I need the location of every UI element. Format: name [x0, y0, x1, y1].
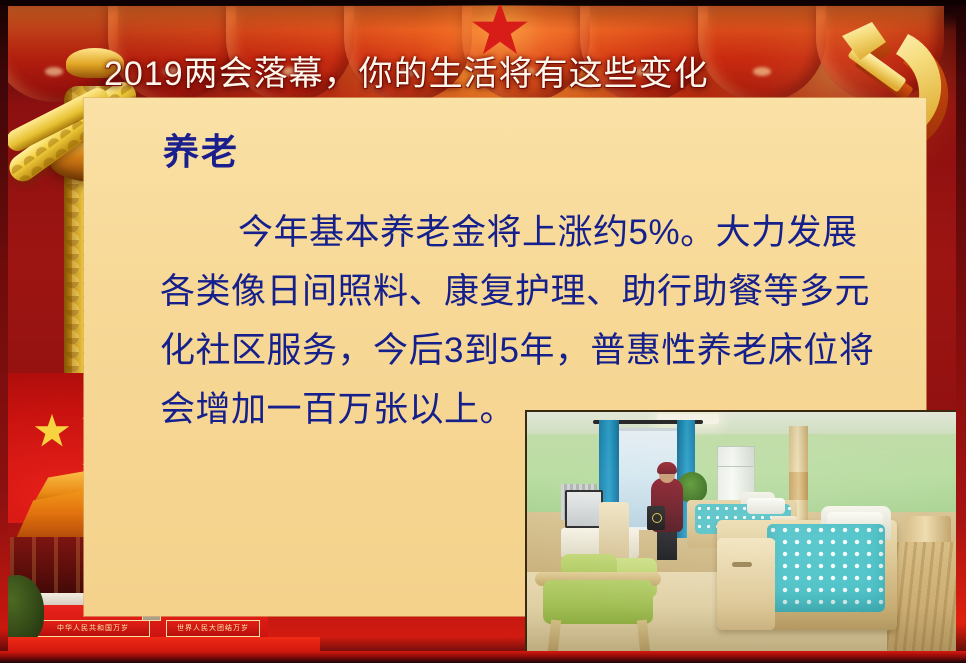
gate-banner-left-text: 中华人民共和国万岁: [37, 621, 149, 636]
gate-banner-right-text: 世界人民大团结万岁: [167, 621, 259, 636]
gate-banner-left: 中华人民共和国万岁: [36, 620, 150, 637]
body-line: 化社区服务，今后3到5年，普惠性养老床位将: [160, 321, 912, 380]
gate-banner-right: 世界人民大团结万岁: [166, 620, 260, 637]
left-edge-band: [0, 0, 8, 663]
section-heading: 养老: [163, 129, 239, 175]
nursing-home-photo: [525, 410, 966, 663]
slide-canvas: 中华人民共和国万岁 世界人民大团结万岁 2019两会落幕，你的生活将有这些变化 …: [0, 0, 966, 663]
body-line: 今年基本养老金将上涨约5%。大力发展: [160, 203, 912, 262]
red-star-decoration: [471, 2, 529, 58]
right-edge-band: [956, 0, 966, 663]
bottom-edge-band: [0, 651, 966, 663]
photo-lighting-overlay: [527, 412, 964, 661]
page-title: 2019两会落幕，你的生活将有这些变化: [104, 52, 804, 96]
body-paragraph: 今年基本养老金将上涨约5%。大力发展 各类像日间照料、康复护理、助行助餐等多元 …: [160, 203, 912, 439]
body-line: 各类像日间照料、康复护理、助行助餐等多元: [160, 262, 912, 321]
top-edge-band: [0, 0, 966, 5]
